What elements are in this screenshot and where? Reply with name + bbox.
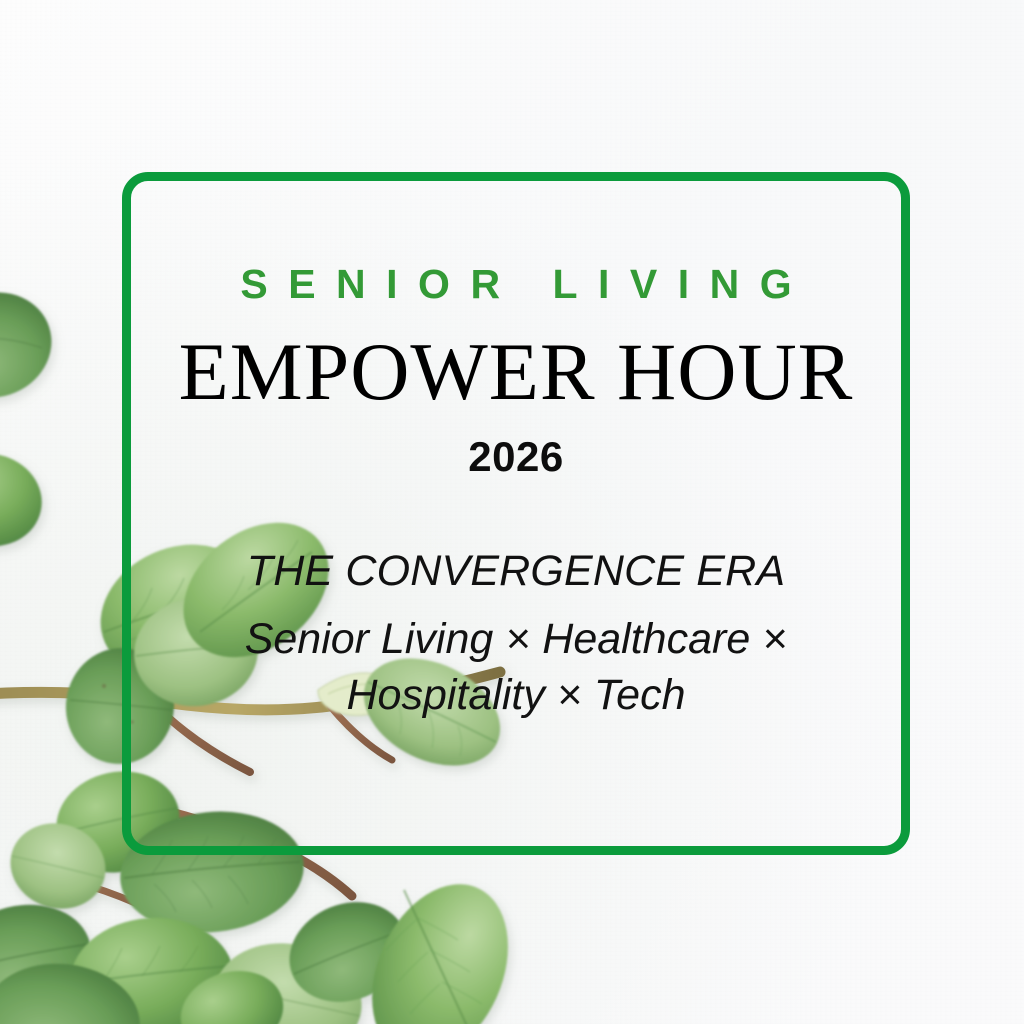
year-label: 2026	[122, 436, 910, 478]
theme-convergence-era: THE CONVERGENCE ERA	[122, 550, 910, 593]
headline-empower-hour: EMPOWER HOUR	[122, 330, 910, 414]
pillars-line-2: Hospitality × Tech	[168, 668, 864, 724]
pillars-block: Senior Living × Healthcare × Hospitality…	[168, 612, 864, 724]
poster-content: SENIOR LIVING EMPOWER HOUR 2026 THE CONV…	[122, 172, 910, 855]
poster-canvas: SENIOR LIVING EMPOWER HOUR 2026 THE CONV…	[0, 0, 1024, 1024]
eyebrow-senior-living: SENIOR LIVING	[122, 264, 910, 305]
pillars-line-1: Senior Living × Healthcare ×	[168, 612, 864, 668]
